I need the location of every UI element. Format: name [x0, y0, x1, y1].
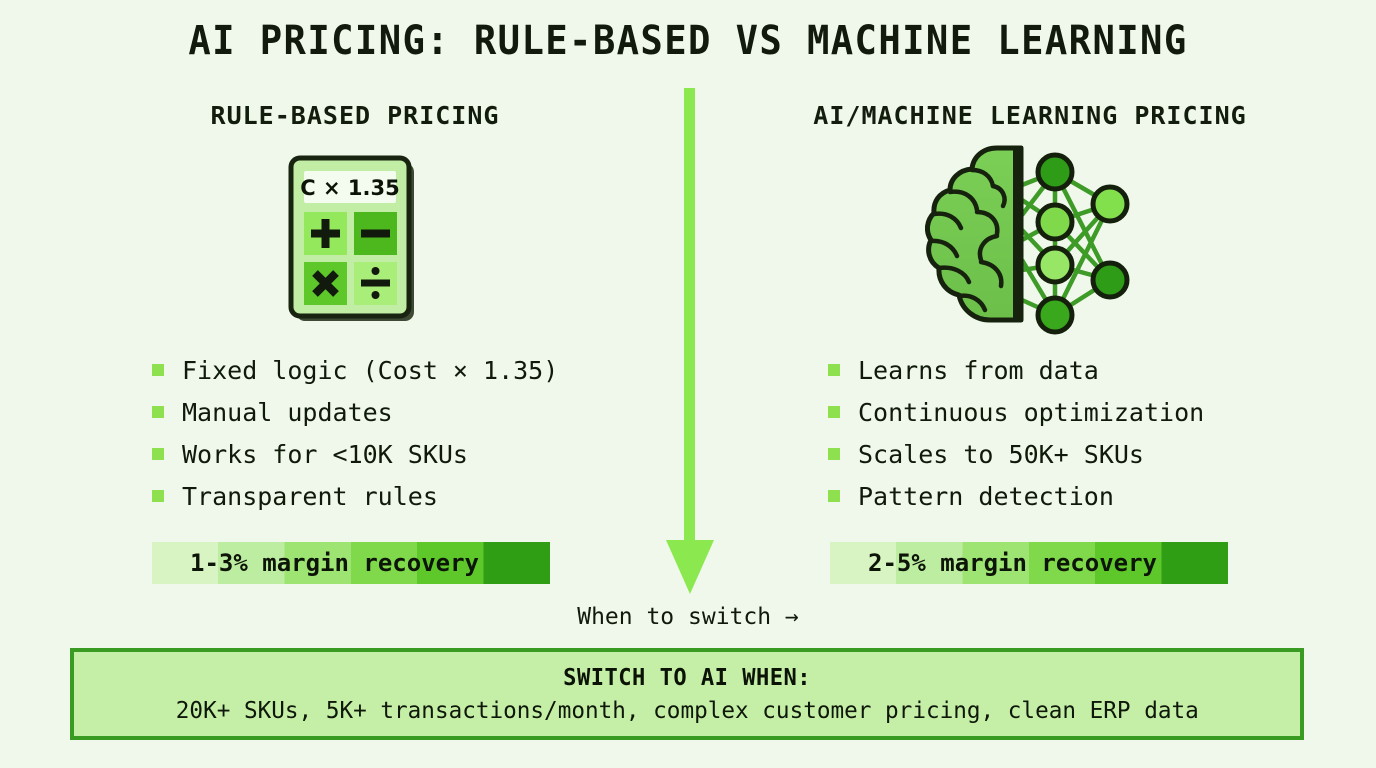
- bullet-square-icon: [152, 448, 164, 460]
- bullet-square-icon: [828, 364, 840, 376]
- bullet-square-icon: [152, 490, 164, 502]
- list-item: Learns from data: [828, 349, 1204, 391]
- callout-title: SWITCH TO AI WHEN:: [563, 665, 811, 691]
- list-item: Transparent rules: [152, 475, 558, 517]
- right-column-heading: AI/MACHINE LEARNING PRICING: [790, 101, 1270, 130]
- calculator-icon: C × 1.35: [288, 155, 418, 325]
- calculator-display-text: C × 1.35: [300, 176, 399, 200]
- when-to-switch-label: When to switch →: [0, 604, 1376, 630]
- left-feature-list: Fixed logic (Cost × 1.35) Manual updates…: [152, 349, 558, 517]
- list-item-label: Continuous optimization: [858, 400, 1204, 425]
- right-margin-recovery-label: 2-5% margin recovery: [830, 549, 1157, 577]
- list-item: Fixed logic (Cost × 1.35): [152, 349, 558, 391]
- page-title: AI PRICING: RULE-BASED VS MACHINE LEARNI…: [48, 18, 1328, 64]
- list-item-label: Scales to 50K+ SKUs: [858, 442, 1144, 467]
- network-node: [1038, 155, 1072, 189]
- right-margin-recovery-bar: 2-5% margin recovery: [830, 542, 1228, 584]
- network-node: [1038, 205, 1072, 239]
- list-item-label: Works for <10K SKUs: [182, 442, 468, 467]
- bullet-square-icon: [152, 364, 164, 376]
- left-margin-recovery-bar: 1-3% margin recovery: [152, 542, 550, 584]
- callout-detail: 20K+ SKUs, 5K+ transactions/month, compl…: [176, 698, 1199, 724]
- list-item-label: Learns from data: [858, 358, 1099, 383]
- brain-shape: [927, 146, 1023, 322]
- list-item: Continuous optimization: [828, 391, 1204, 433]
- network-node: [1038, 298, 1072, 332]
- bullet-square-icon: [828, 406, 840, 418]
- network-node: [1038, 248, 1072, 282]
- list-item-label: Manual updates: [182, 400, 393, 425]
- left-column-heading: RULE-BASED PRICING: [130, 101, 580, 130]
- infographic-canvas: AI PRICING: RULE-BASED VS MACHINE LEARNI…: [0, 0, 1376, 768]
- list-item: Manual updates: [152, 391, 558, 433]
- list-item: Pattern detection: [828, 475, 1204, 517]
- list-item-label: Transparent rules: [182, 484, 438, 509]
- right-feature-list: Learns from data Continuous optimization…: [828, 349, 1204, 517]
- list-item-label: Pattern detection: [858, 484, 1114, 509]
- down-arrow-icon: [660, 88, 720, 598]
- bullet-square-icon: [828, 448, 840, 460]
- bullet-square-icon: [152, 406, 164, 418]
- list-item: Works for <10K SKUs: [152, 433, 558, 475]
- bullet-square-icon: [828, 490, 840, 502]
- network-node: [1093, 263, 1127, 297]
- network-node: [1093, 187, 1127, 221]
- list-item: Scales to 50K+ SKUs: [828, 433, 1204, 475]
- brain-network-icon: [925, 140, 1140, 335]
- left-margin-recovery-label: 1-3% margin recovery: [152, 549, 479, 577]
- list-item-label: Fixed logic (Cost × 1.35): [182, 358, 558, 383]
- switch-to-ai-callout: SWITCH TO AI WHEN: 20K+ SKUs, 5K+ transa…: [70, 648, 1304, 740]
